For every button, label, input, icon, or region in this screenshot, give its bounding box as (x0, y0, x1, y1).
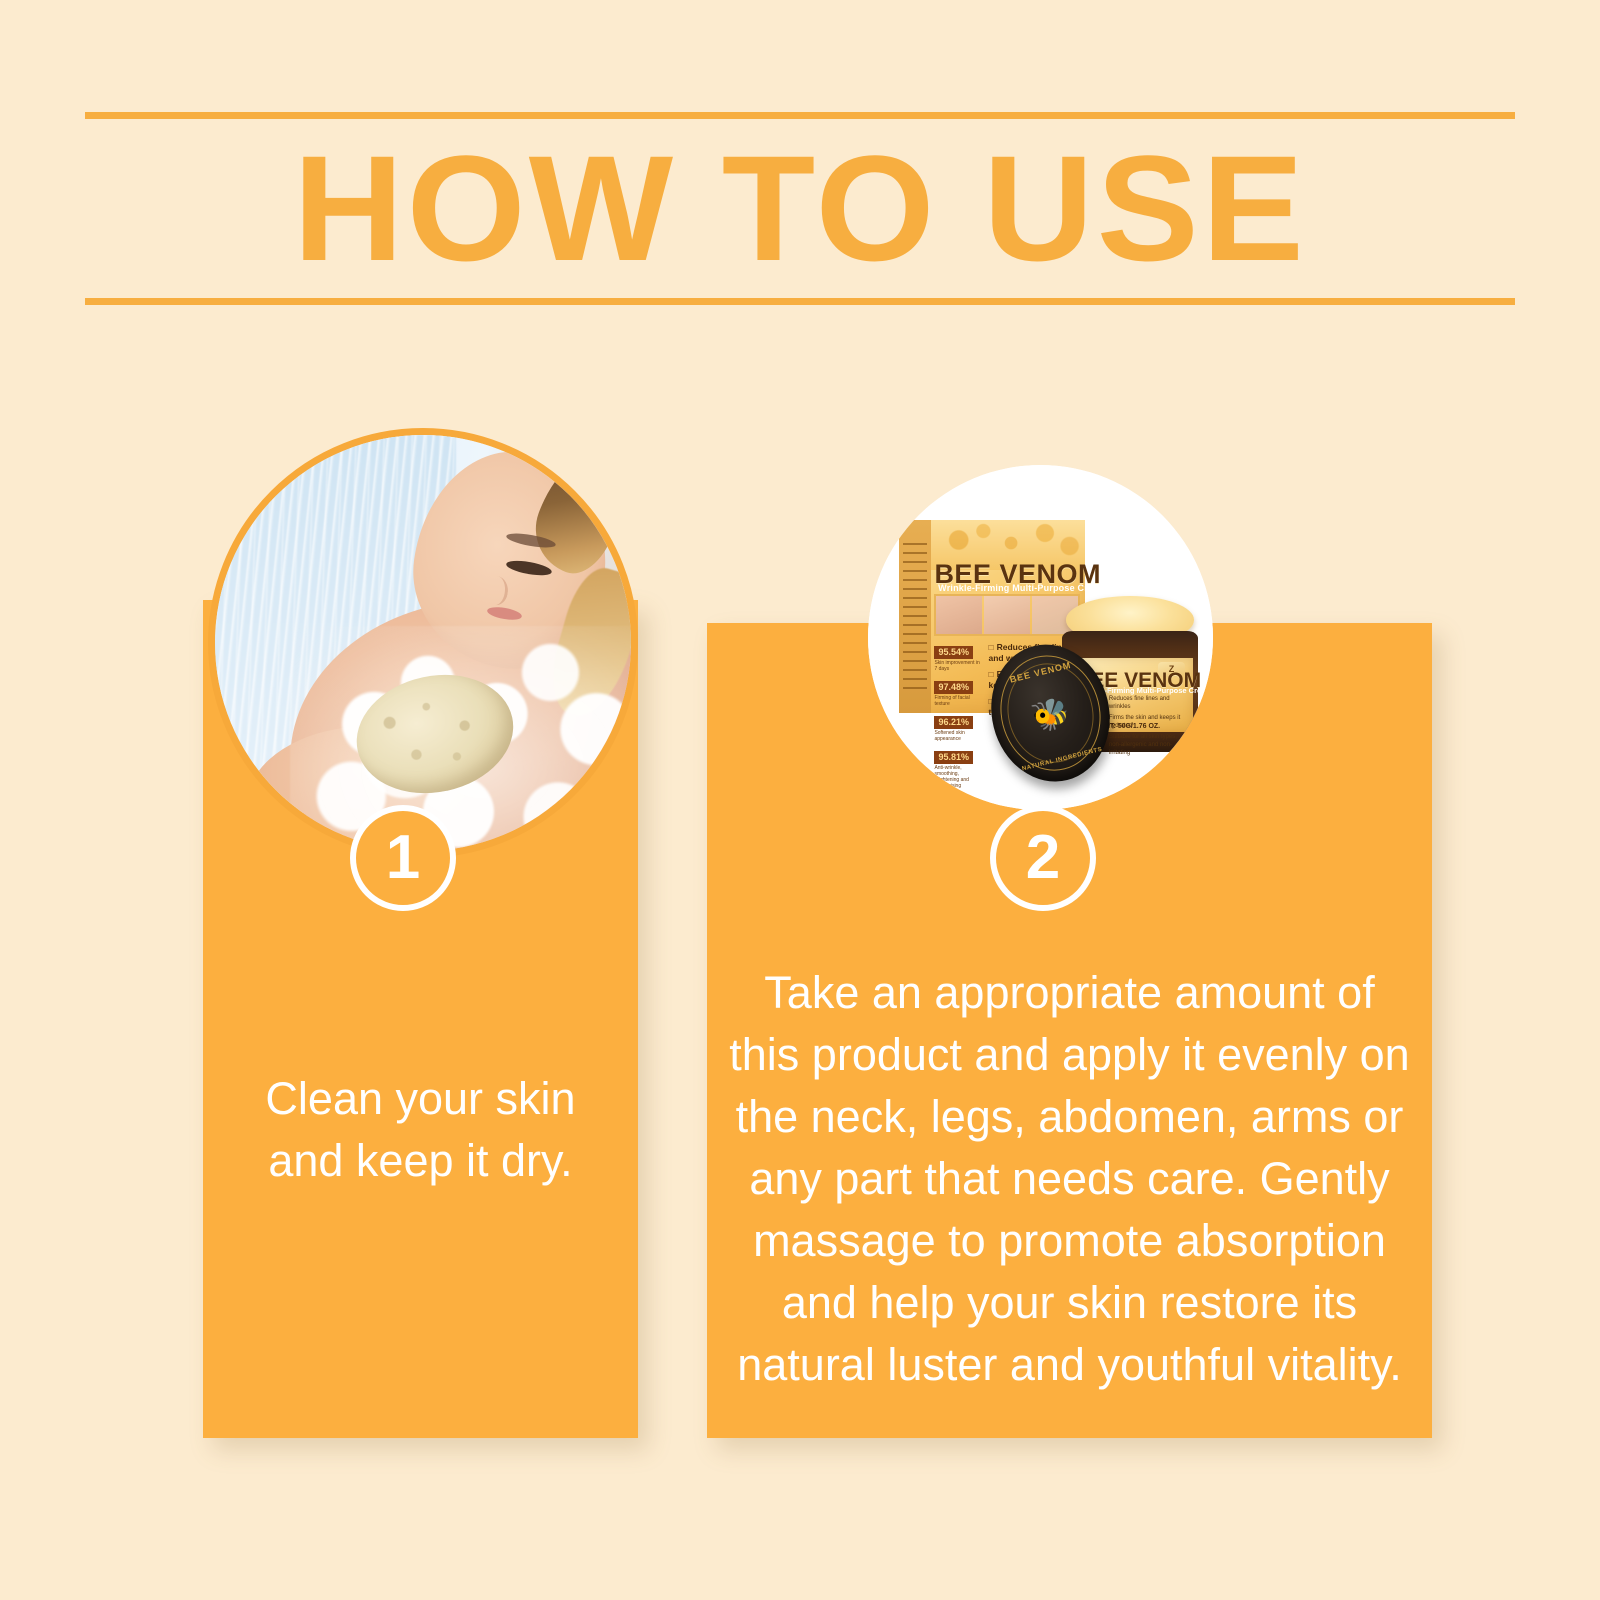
header-rule-bottom (85, 298, 1515, 305)
box-stat-label: Softened skin appearance (934, 730, 982, 742)
box-stat-label: Firming of facial texture (934, 695, 982, 707)
box-stat-percent: 95.54% (934, 646, 973, 659)
infographic-page: HOW TO USE Clean your skin and keep it d… (0, 0, 1600, 1600)
step-2-photo: BEE VENOM Wrinkle-Firming Multi-Purpose … (868, 465, 1213, 810)
box-stat-percent: 97.48% (934, 681, 973, 694)
shower-scene-image (215, 435, 631, 851)
page-header: HOW TO USE (85, 112, 1515, 307)
box-stat-percent: 95.81% (934, 751, 973, 764)
box-stat-label: Anti-wrinkle, smoothing, brightening and… (934, 765, 982, 789)
step-1-description: Clean your skin and keep it dry. (203, 1068, 638, 1192)
box-stat-label: Skin improvement in 7 days (934, 660, 982, 672)
hair-shape (522, 443, 635, 583)
step-badge-1: 1 (350, 805, 456, 911)
box-product-subtitle: Wrinkle-Firming Multi-Purpose Cream (938, 583, 1080, 593)
box-stats-list: 95.54% Skin improvement in 7 days 97.48%… (934, 642, 982, 794)
step-badge-2: 2 (990, 805, 1096, 911)
box-photo-abdomen (936, 596, 982, 635)
box-stat-item: 95.81% Anti-wrinkle, smoothing, brighten… (934, 747, 982, 789)
box-photo-face (984, 596, 1030, 635)
box-side-text-lines (903, 543, 926, 694)
product-scene-image: BEE VENOM Wrinkle-Firming Multi-Purpose … (868, 465, 1213, 810)
box-stat-item: 97.48% Firming of facial texture (934, 677, 982, 707)
box-stat-percent: 96.21% (934, 716, 973, 729)
box-stat-item: 95.54% Skin improvement in 7 days (934, 642, 982, 672)
page-title: HOW TO USE (71, 120, 1530, 296)
box-stat-item: 96.21% Softened skin appearance (934, 712, 982, 742)
jar-benefit-item: Suitable for all skin types, non-allerge… (1109, 733, 1188, 757)
jar-benefit-item: Reduces fine lines and wrinkles (1109, 695, 1188, 711)
box-side-panel (899, 520, 931, 713)
step-1-photo (208, 428, 638, 858)
step-2-description: Take an appropriate amount of this produ… (707, 962, 1432, 1396)
header-rule-top (85, 112, 1515, 119)
